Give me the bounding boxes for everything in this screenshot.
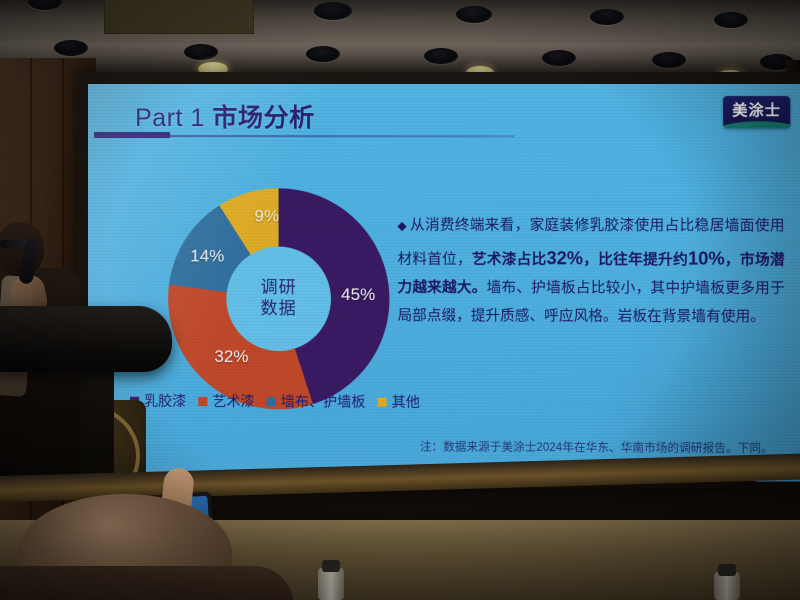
slice-label-yishuqi: 32% <box>214 347 248 367</box>
legend-item: 其他 <box>377 392 419 412</box>
legend-label: 乳胶漆 <box>144 391 186 411</box>
photo-scene: Part 1 市场分析 美涂士 调研 数据 45% 32% 14% 9% 乳胶漆 <box>0 0 800 600</box>
audience-shoulders <box>0 566 294 600</box>
ceiling-downlight <box>456 6 492 23</box>
bullet-diamond-icon: ◆ <box>397 219 407 233</box>
ceiling-downlight <box>28 0 62 10</box>
title-main: 市场分析 <box>212 104 315 132</box>
presentation-slide: Part 1 市场分析 美涂士 调研 数据 45% 32% 14% 9% 乳胶漆 <box>88 84 800 482</box>
legend-swatch-icon <box>267 397 276 406</box>
bottle-cap <box>322 560 340 572</box>
ceiling-access-panel <box>104 0 254 34</box>
title-prefix: Part 1 <box>135 104 205 132</box>
page-title: Part 1 市场分析 <box>135 98 315 134</box>
ceiling-downlight <box>314 2 352 20</box>
ceiling-downlight <box>714 12 748 28</box>
podium-top <box>0 306 172 372</box>
body-text-c: ，比往年提升约 <box>583 252 688 268</box>
brand-logo: 美涂士 <box>723 96 790 128</box>
center-label-line1: 调研 <box>261 278 297 299</box>
legend-label: 其他 <box>392 392 420 412</box>
chart-legend: 乳胶漆 艺术漆 墙布、护墙板 其他 <box>130 391 420 412</box>
ceiling-downlight <box>652 52 686 68</box>
body-stat-10: 10% <box>688 248 725 268</box>
bottle-cap <box>718 564 736 576</box>
ceiling-downlight <box>424 48 458 64</box>
body-stat-32: 32% <box>546 248 583 268</box>
donut-chart: 调研 数据 45% 32% 14% 9% <box>168 188 390 410</box>
legend-label: 墙布、护墙板 <box>281 391 366 411</box>
ceiling-downlight <box>306 46 340 62</box>
legend-item: 艺术漆 <box>198 391 254 411</box>
legend-item: 墙布、护墙板 <box>267 391 366 412</box>
body-text-b: 艺术漆占比 <box>472 252 547 268</box>
ceiling-downlight <box>590 9 624 25</box>
logo-text: 美涂士 <box>732 103 781 118</box>
slice-label-rujiaoqi: 45% <box>341 285 375 305</box>
slice-label-qiangbu: 14% <box>190 246 224 266</box>
water-bottle <box>318 568 344 600</box>
ceiling <box>0 0 800 82</box>
center-label-line2: 数据 <box>261 299 297 320</box>
donut-center-label: 调研 数据 <box>226 246 331 351</box>
ceiling-downlight <box>542 50 576 66</box>
ceiling-downlight <box>184 44 218 60</box>
title-rule <box>94 135 514 137</box>
slice-label-qita: 9% <box>254 206 279 226</box>
legend-swatch-icon <box>377 397 386 406</box>
legend-label: 艺术漆 <box>212 391 254 411</box>
ceiling-downlight <box>54 40 88 56</box>
legend-swatch-icon <box>198 396 207 405</box>
water-bottle <box>714 572 740 600</box>
body-paragraph: ◆从消费终端来看，家庭装修乳胶漆使用占比稳居墙面使用材料首位，艺术漆占比32%，… <box>397 213 785 333</box>
logo-swoosh-shape <box>723 121 790 128</box>
source-note: 注：数据来源于美涂士2024年在华东、华南市场的调研报告。下同。 <box>420 438 773 456</box>
